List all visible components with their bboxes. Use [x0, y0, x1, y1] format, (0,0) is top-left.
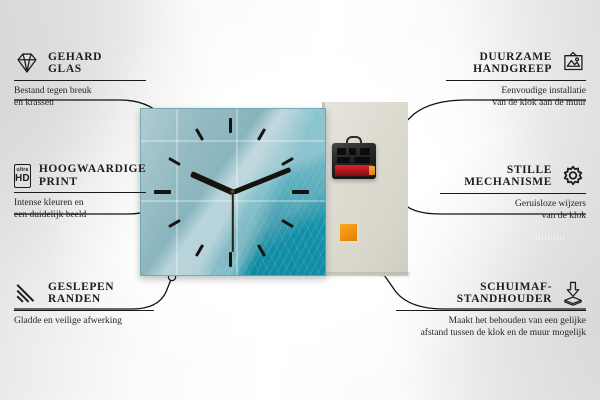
battery-positive-tip [369, 166, 375, 175]
callout-title-line2: PRINT [39, 176, 147, 189]
wall-clock [140, 108, 326, 276]
callout-rule [14, 310, 154, 311]
callout-desc-line1: Eenvoudige installatie [446, 86, 586, 98]
callout-title-line2: HANDGREEP [473, 63, 552, 76]
foam-spacer-icon [560, 280, 586, 306]
callout-header: GEHARD GLAS [14, 50, 146, 76]
gear-icon [560, 163, 586, 189]
callout-schuimafstandhouder: SCHUIMAF- STANDHOUDER Maakt het behouden… [396, 280, 586, 339]
product-photo [136, 98, 408, 280]
callout-title-line1: SCHUIMAF- [457, 281, 552, 294]
foam-spacer [340, 224, 357, 241]
callout-header: DUURZAME HANDGREEP [446, 50, 586, 76]
callout-rule [396, 310, 586, 311]
callout-geslepen-randen: GESLEPEN RANDEN Gladde en veilige afwerk… [14, 280, 154, 328]
callout-title-line1: STILLE [464, 164, 552, 177]
callout-desc-line1: Geruisloze wijzers [440, 199, 586, 211]
callout-title-line2: GLAS [48, 63, 102, 76]
callout-rule [440, 193, 586, 194]
callout-title-line1: GEHARD [48, 51, 102, 64]
callout-rule [14, 192, 146, 193]
callout-desc-line2: en krassen [14, 98, 146, 110]
hanging-frame-icon [560, 50, 586, 76]
callout-hoogwaardige-print: ultra HD HOOGWAARDIGE PRINT Intense kleu… [14, 163, 146, 221]
callout-header: ultra HD HOOGWAARDIGE PRINT [14, 163, 146, 188]
callout-desc-line2: een duidelijk beeld [14, 210, 146, 222]
callout-stille-mechanisme: STILLE MECHANISME Geruisloze wijzers van… [440, 163, 586, 222]
callout-desc-line2: afstand tussen de klok en de muur mogeli… [396, 328, 586, 340]
callout-gehard-glas: GEHARD GLAS Bestand tegen breuk en krass… [14, 50, 146, 109]
clock-glass-edge [140, 108, 326, 276]
callout-title-line1: DUURZAME [473, 51, 552, 64]
bevelled-edges-icon [14, 280, 40, 306]
callout-desc-line1: Gladde en veilige afwerking [14, 316, 154, 328]
callout-desc-line1: Intense kleuren en [14, 198, 146, 210]
callout-title-line2: MECHANISME [464, 176, 552, 189]
callout-header: STILLE MECHANISME [440, 163, 586, 189]
wall-panel [322, 102, 408, 276]
callout-desc-line1: Maakt het behouden van een gelijke [396, 316, 586, 328]
diamond-icon [14, 50, 40, 76]
ultra-hd-icon-small-text: ultra [17, 168, 29, 173]
callout-title-line1: GESLEPEN [48, 281, 114, 294]
callout-title-line1: HOOGWAARDIGE [39, 163, 147, 176]
ultra-hd-icon: ultra HD [14, 164, 31, 188]
callout-desc-line2: van de klok aan de muur [446, 98, 586, 110]
ultra-hd-icon-large-text: HD [15, 174, 30, 184]
callout-rule [446, 80, 586, 81]
infographic-canvas: GEHARD GLAS Bestand tegen breuk en krass… [0, 0, 600, 400]
callout-title-line2: STANDHOUDER [457, 293, 552, 306]
callout-title-line2: RANDEN [48, 293, 114, 306]
callout-desc-line2: van de klok [440, 211, 586, 223]
wall-panel-shadow [322, 272, 410, 279]
callout-rule [14, 80, 146, 81]
aa-battery [335, 165, 373, 176]
callout-duurzame-handgreep: DUURZAME HANDGREEP Eenvoudige installati… [446, 50, 586, 109]
callout-header: SCHUIMAF- STANDHOUDER [396, 280, 586, 306]
callout-header: GESLEPEN RANDEN [14, 280, 154, 306]
callout-desc-line1: Bestand tegen breuk [14, 86, 146, 98]
